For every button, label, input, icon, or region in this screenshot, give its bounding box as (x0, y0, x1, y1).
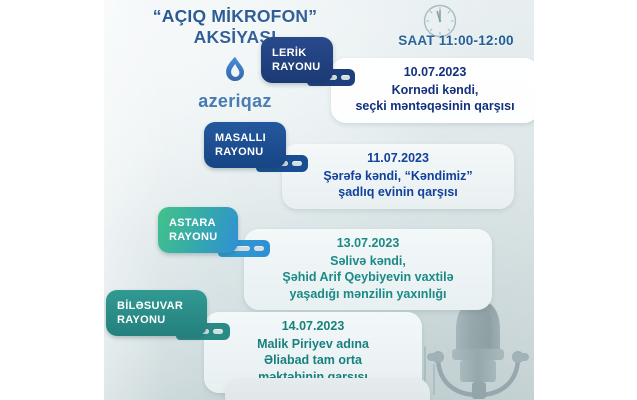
district-name: MASALLI (215, 131, 274, 145)
time-label: SAAT 11:00-12:00 (376, 33, 534, 48)
district-badge-bilasuvar: BİLƏSUVAR RAYONU (106, 290, 207, 336)
district-name: BİLƏSUVAR (117, 299, 195, 313)
district-suffix: RAYONU (215, 145, 274, 159)
event-address-line: şadlıq evinin qarşısı (296, 184, 500, 201)
event-address-line: Şəhid Arif Qeybiyevin vaxtilə (258, 269, 478, 286)
event-card-lerik: 10.07.2023 Kornədi kəndi, seçki məntəqəs… (331, 58, 534, 123)
district-badge-lerik: LERİK RAYONU (261, 37, 333, 83)
district-name: ASTARA (169, 216, 226, 230)
event-address-line: Kornədi kəndi, (345, 82, 525, 99)
screenshot-canvas: “AÇIQ MİKROFON” AKSİYASI (0, 0, 637, 400)
district-badge-masalli: MASALLI RAYONU (204, 122, 286, 168)
district-suffix: RAYONU (272, 60, 321, 74)
event-date: 10.07.2023 (345, 64, 525, 81)
district-name: LERİK (272, 46, 321, 60)
event-address-line: Şərəfə kəndi, “Kəndimiz” (296, 168, 500, 185)
event-address-line: Əliabad tam orta (218, 352, 408, 369)
event-date: 11.07.2023 (296, 150, 500, 167)
announcement-poster: “AÇIQ MİKROFON” AKSİYASI (104, 0, 534, 400)
district-suffix: RAYONU (169, 230, 226, 244)
district-suffix: RAYONU (117, 313, 195, 327)
event-address-line: seçki məntəqəsinin qarşısı (345, 98, 525, 115)
event-address-line: Səlivə kəndi, (258, 253, 478, 270)
brand-wordmark: azeriqaz (160, 91, 310, 112)
headline-line-1: “AÇIQ MİKROFON” (153, 6, 317, 26)
event-date: 14.07.2023 (218, 318, 408, 335)
event-date: 13.07.2023 (258, 235, 478, 252)
event-address-line: yaşadığı mənzilin yaxınlığı (258, 286, 478, 303)
event-card-partial (225, 378, 430, 400)
district-badge-astara: ASTARA RAYONU (158, 207, 238, 253)
event-address-line: Malik Piriyev adına (218, 336, 408, 353)
event-card-masalli: 11.07.2023 Şərəfə kəndi, “Kəndimiz” şadl… (282, 144, 514, 209)
event-card-astara: 13.07.2023 Səlivə kəndi, Şəhid Arif Qeyb… (244, 229, 492, 310)
